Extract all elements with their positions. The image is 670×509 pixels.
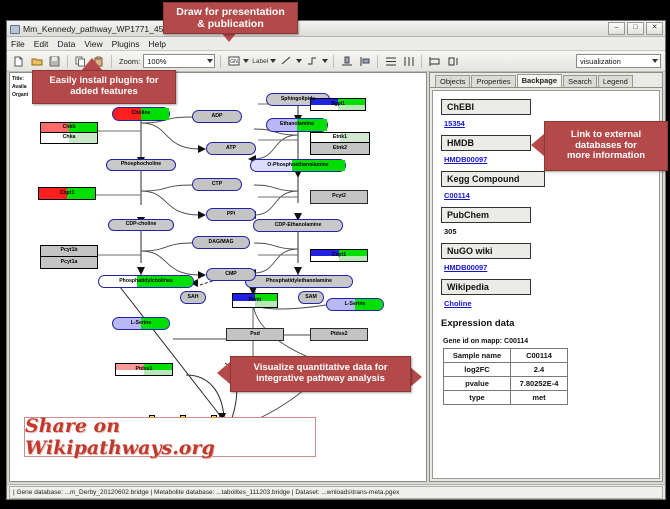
gene-chkb[interactable]: Chkb: [41, 123, 97, 133]
menu-item-view[interactable]: View: [84, 39, 102, 49]
cell-value: 2.4: [511, 363, 568, 377]
label-tool[interactable]: Label: [252, 58, 276, 65]
db-value-pubchem: 305: [444, 227, 651, 236]
screenshot-root: Mm_Kennedy_pathway_WP1771_45176.gpml – □…: [0, 0, 670, 509]
db-header-pubchem: PubChem: [441, 207, 531, 223]
cell-key: log2FC: [444, 363, 511, 377]
tab-search[interactable]: Search: [563, 75, 597, 87]
status-bar: | Gene database: ...m_Derby_20120602.bri…: [7, 484, 665, 499]
same-height-icon[interactable]: [445, 54, 460, 69]
toolbar-separator-4: [333, 55, 334, 68]
menu-item-edit[interactable]: Edit: [34, 39, 49, 49]
node-cmp[interactable]: CMP: [206, 268, 256, 281]
tab-objects[interactable]: Objects: [435, 75, 470, 87]
db-header-wikipedia: Wikipedia: [441, 279, 531, 295]
cell-key: Sample name: [444, 349, 511, 363]
chevron-down-icon: [296, 59, 302, 63]
toolbar: Zoom: 100% GN Label: [7, 51, 665, 72]
toolbar-separator-5: [377, 55, 378, 68]
align-bottom-icon[interactable]: [339, 54, 354, 69]
gene-pcyt1b[interactable]: Pcyt1b: [41, 246, 97, 257]
gene-id-line: Gene id on mapp: C00114: [443, 338, 651, 345]
title-bar: Mm_Kennedy_pathway_WP1771_45176.gpml – □…: [7, 21, 665, 37]
node-phosphatidylethanolamine[interactable]: Phosphatidylethanolamine: [245, 275, 353, 288]
zoom-combobox[interactable]: 100%: [143, 54, 215, 68]
tab-properties[interactable]: Properties: [471, 75, 515, 87]
gene-pemt[interactable]: Pemt: [232, 293, 278, 308]
zoom-value: 100%: [147, 57, 166, 66]
callout-share: Share on Wikipathways.org: [24, 417, 316, 457]
gene-sgpl1[interactable]: Sgpl1: [310, 98, 366, 111]
node-phosphocholine[interactable]: Phosphocholine: [106, 159, 176, 171]
node-atp[interactable]: ATP: [206, 142, 256, 155]
gene-group-chk: Chkb Chka: [40, 122, 98, 144]
node-ctp[interactable]: CTP: [192, 178, 242, 191]
node-dagmag[interactable]: DAG/MAG: [192, 236, 250, 249]
db-header-nugo: NuGO wiki: [441, 243, 531, 259]
node-l-serine-lower[interactable]: L-Serine: [112, 317, 170, 330]
cell-value: met: [511, 391, 568, 405]
table-row: log2FC 2.4: [444, 363, 568, 377]
gene-chka[interactable]: Chka: [41, 133, 97, 143]
callout-link: Link to external databases for more info…: [544, 121, 668, 171]
share-text: Share on Wikipathways.org: [25, 415, 315, 459]
node-adp[interactable]: ADP: [192, 110, 242, 123]
db-header-hmdb: HMDB: [441, 135, 531, 151]
toolbar-separator-6: [421, 55, 422, 68]
status-text: | Gene database: ...m_Derby_20120602.bri…: [9, 486, 663, 499]
menu-item-data[interactable]: Data: [57, 39, 75, 49]
pathvisio-icon: [10, 24, 19, 33]
zoom-label: Zoom:: [119, 57, 140, 66]
close-button[interactable]: ✕: [646, 22, 663, 35]
gene-ptdss2[interactable]: Ptdss2: [310, 328, 368, 341]
tab-backpage[interactable]: Backpage: [517, 74, 562, 87]
anchor-line-icon: [305, 54, 320, 69]
table-row: pvalue 7.80252E-4: [444, 377, 568, 391]
distribute-vertical-icon[interactable]: [383, 54, 398, 69]
chevron-down-icon: [243, 59, 249, 63]
node-o-phosphoethanolamine[interactable]: O-Phosphoethanolamine: [250, 159, 346, 172]
menu-item-file[interactable]: File: [11, 39, 25, 49]
callout-plugins: Easily install plugins for added feature…: [32, 70, 176, 104]
line-icon: [279, 54, 294, 69]
db-header-kegg: Kegg Compound: [441, 171, 545, 187]
gene-psd[interactable]: Psd: [226, 328, 284, 341]
menu-item-plugins[interactable]: Plugins: [112, 39, 140, 49]
same-width-icon[interactable]: [427, 54, 442, 69]
toolbar-separator-2: [111, 55, 112, 68]
gene-etnk2[interactable]: Etnk2: [311, 143, 369, 154]
expression-table: Sample name C00114 log2FC 2.4 pvalue 7.8…: [443, 348, 568, 405]
node-sam[interactable]: SAM: [298, 291, 324, 304]
node-ppi[interactable]: PPi: [206, 208, 256, 221]
cell-key: pvalue: [444, 377, 511, 391]
maximize-button[interactable]: □: [627, 22, 644, 35]
visualization-value: visualization: [580, 57, 621, 66]
new-file-icon[interactable]: [11, 54, 26, 69]
gene-group-pcyt1: Pcyt1b Pcyt1a: [40, 245, 98, 269]
table-row: type met: [444, 391, 568, 405]
node-phosphatidylcholines[interactable]: Phosphatidylcholines: [98, 275, 194, 288]
chevron-down-icon: [270, 59, 276, 63]
menu-item-help[interactable]: Help: [149, 39, 166, 49]
callout-link-arrow-icon: [531, 134, 544, 156]
minimize-button[interactable]: –: [608, 22, 625, 35]
db-link-wikipedia[interactable]: Choline: [444, 299, 651, 308]
db-header-chebi: ChEBI: [441, 99, 531, 115]
line-tool[interactable]: [279, 54, 302, 69]
toolbar-separator-3: [220, 55, 221, 68]
table-row: Sample name C00114: [444, 349, 568, 363]
label-tool-text: Label: [252, 58, 268, 65]
save-icon[interactable]: [47, 54, 62, 69]
gene-pcyt2[interactable]: Pcyt2: [310, 190, 368, 204]
db-link-nugo[interactable]: HMDB00097: [444, 263, 651, 272]
tab-legend[interactable]: Legend: [598, 75, 633, 87]
toolbar-separator-1: [67, 55, 68, 68]
callout-visualize: Visualize quantitative data for integrat…: [230, 356, 411, 392]
menu-bar: File Edit Data View Plugins Help: [7, 37, 665, 51]
node-choline[interactable]: Choline: [112, 107, 170, 121]
datanode-tool[interactable]: GN: [226, 54, 249, 69]
align-left-icon[interactable]: [357, 54, 372, 69]
gene-group-etnk: Etnk1 Etnk2: [310, 132, 370, 155]
node-cdp-choline[interactable]: CDP-choline: [108, 219, 174, 231]
callout-visualize-arrow-icon: [217, 362, 230, 384]
db-link-kegg[interactable]: C00114: [444, 191, 651, 200]
side-panel-tabs: Objects Properties Backpage Search Legen…: [430, 73, 662, 88]
chevron-down-icon: [207, 59, 213, 63]
gene-cept1[interactable]: Cept1: [310, 249, 368, 262]
chevron-down-icon: [322, 59, 328, 63]
datanode-icon: GN: [226, 54, 241, 69]
open-folder-icon[interactable]: [29, 54, 44, 69]
svg-text:GN: GN: [230, 59, 238, 65]
node-l-serine-upper[interactable]: L-Serine: [326, 298, 384, 311]
chevron-down-icon: [652, 59, 658, 63]
cell-key: type: [444, 391, 511, 405]
visualization-combobox[interactable]: visualization: [576, 54, 661, 68]
gene-chpt1[interactable]: Chpt1: [38, 187, 96, 200]
gene-pcyt1a[interactable]: Pcyt1a: [41, 257, 97, 268]
node-cdp-ethanolamine[interactable]: CDP-Ethanolamine: [253, 219, 343, 232]
node-ethanolamine[interactable]: Ethanolamine: [266, 118, 328, 132]
gene-etnk1[interactable]: Etnk1: [311, 133, 369, 143]
node-sah[interactable]: SAH: [180, 291, 206, 304]
connector-tool[interactable]: [305, 54, 328, 69]
gene-ptdss1[interactable]: Ptdss1: [115, 363, 173, 376]
expression-data-title: Expression data: [441, 318, 651, 329]
cell-value: C00114: [511, 349, 568, 363]
callout-draw: Draw for presentation & publication: [163, 2, 298, 34]
window-controls: – □ ✕: [608, 22, 663, 35]
cell-value: 7.80252E-4: [511, 377, 568, 391]
distribute-horizontal-icon[interactable]: [401, 54, 416, 69]
